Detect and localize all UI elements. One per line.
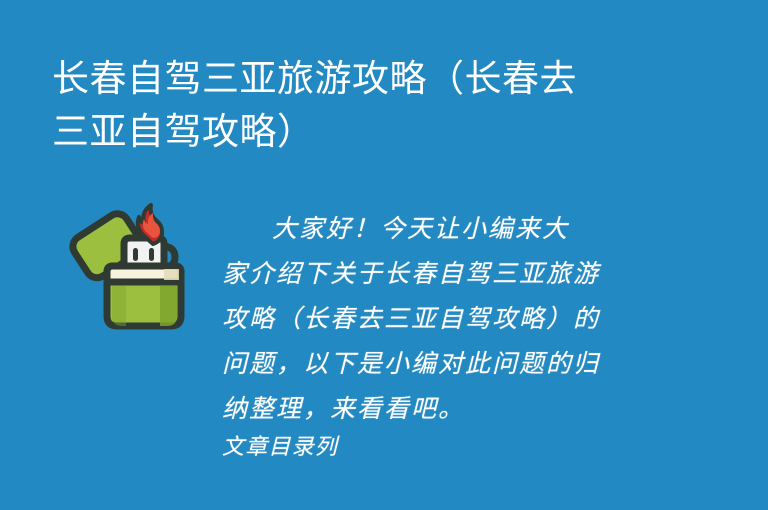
toc-heading: 文章目录列 [222,431,650,465]
lighter-icon [60,198,196,338]
article-body: 大家好！今天让小编来大 家介绍下关于长春自驾三亚旅游 攻略（长春去三亚自驾攻略）… [222,206,650,465]
title-line-2: 三亚自驾攻略） [52,105,652,158]
article-page: 长春自驾三亚旅游攻略（长春去 三亚自驾攻略） [0,0,768,510]
body-line-2: 家介绍下关于长春自驾三亚旅游 [222,251,650,296]
body-line-4: 问题，以下是小编对此问题的归 [222,341,650,386]
body-line-1: 大家好！今天让小编来大 [222,206,650,251]
page-title: 长春自驾三亚旅游攻略（长春去 三亚自驾攻略） [52,52,652,158]
title-line-1: 长春自驾三亚旅游攻略（长春去 [52,52,652,105]
body-line-3: 攻略（长春去三亚自驾攻略）的 [222,296,650,341]
body-line-5: 纳整理，来看看吧。 [222,386,650,431]
